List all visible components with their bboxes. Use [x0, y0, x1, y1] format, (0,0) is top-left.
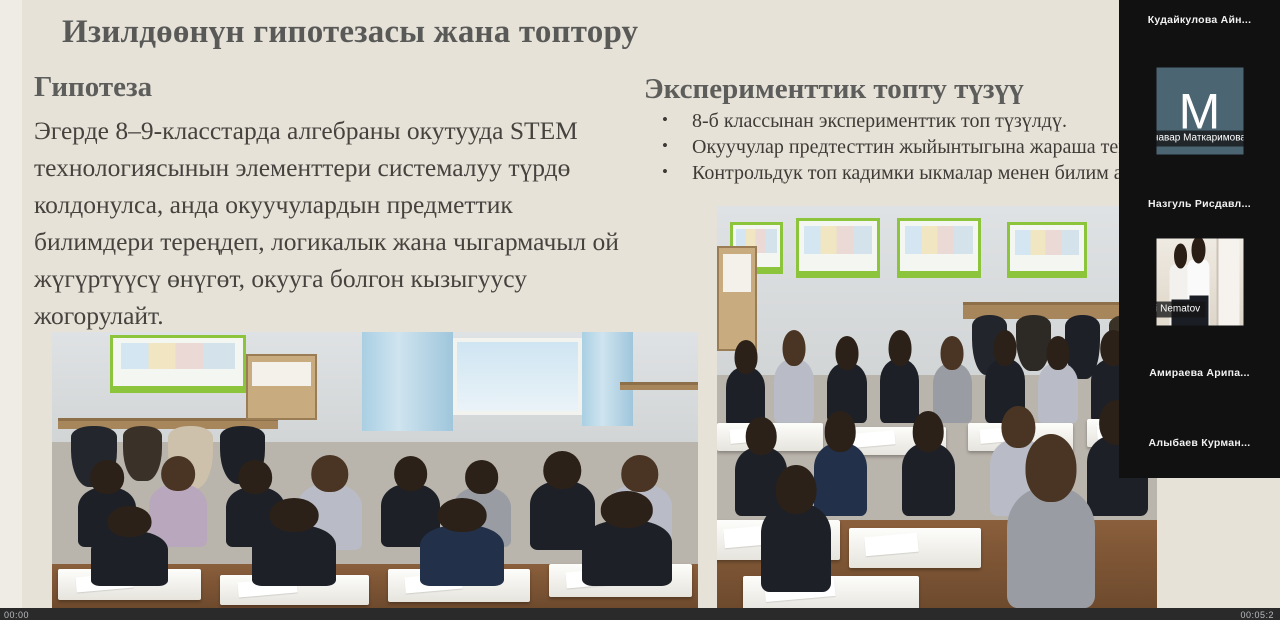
experiment-group-heading: Эксперименттик топту түзүү — [644, 72, 1024, 106]
participant-name: Кудайкулова Айн... — [1119, 14, 1280, 26]
participant-name: Алыбаев Курман... — [1119, 437, 1280, 449]
hypothesis-paragraph: Эгерде 8–9-класстарда алгебраны окутууда… — [34, 112, 634, 334]
list-item: Контрольдук топ кадимки ыкмалар менен би… — [656, 160, 1156, 186]
participant-video-thumb: Joni Nematov — [1156, 239, 1243, 326]
classroom-photo-right — [717, 206, 1157, 608]
participant-avatar: M Минавар Маткаримова — [1156, 68, 1243, 155]
participant-tile[interactable]: Алыбаев Курман... — [1119, 408, 1280, 478]
slide-content: Изилдөөнүн гипотезасы жана топтору Гипот… — [22, 0, 1280, 608]
classroom-photo-left — [52, 332, 698, 608]
bottom-bar[interactable]: 00:00 00:05:2 — [0, 608, 1280, 620]
participant-tile[interactable]: Кудайкулова Айн... — [1119, 0, 1280, 40]
participant-tile[interactable]: Амираева Арипа... — [1119, 338, 1280, 408]
participant-tile[interactable]: Назгуль Рисдавл... — [1119, 182, 1280, 226]
participant-tile[interactable]: M Минавар Маткаримова — [1119, 40, 1280, 182]
participant-name: Минавар Маткаримова — [1156, 131, 1243, 147]
experiment-bullet-list: 8-б классынан эксперименттик топ түзүлдү… — [656, 108, 1156, 186]
participant-name: Назгуль Рисдавл... — [1119, 198, 1280, 210]
hypothesis-heading: Гипотеза — [34, 70, 152, 104]
participant-name: Амираева Арипа... — [1119, 367, 1280, 379]
participant-tile[interactable]: Joni Nematov — [1119, 226, 1280, 338]
participant-sidebar[interactable]: Кудайкулова Айн... M Минавар Маткаримова… — [1119, 0, 1280, 478]
screen: Изилдөөнүн гипотезасы жана топтору Гипот… — [0, 0, 1280, 620]
list-item: Окуучулар предтесттин жыйынтыгына жараша… — [656, 134, 1156, 160]
list-item: 8-б классынан эксперименттик топ түзүлдү… — [656, 108, 1156, 134]
elapsed-time-left: 00:00 — [4, 610, 29, 620]
slide-title: Изилдөөнүн гипотезасы жана топтору — [62, 12, 638, 52]
elapsed-time-right: 00:05:2 — [1240, 610, 1274, 620]
participant-name: Joni Nematov — [1156, 302, 1205, 318]
slide-left-edge — [0, 0, 22, 608]
shared-slide[interactable]: Изилдөөнүн гипотезасы жана топтору Гипот… — [0, 0, 1280, 608]
